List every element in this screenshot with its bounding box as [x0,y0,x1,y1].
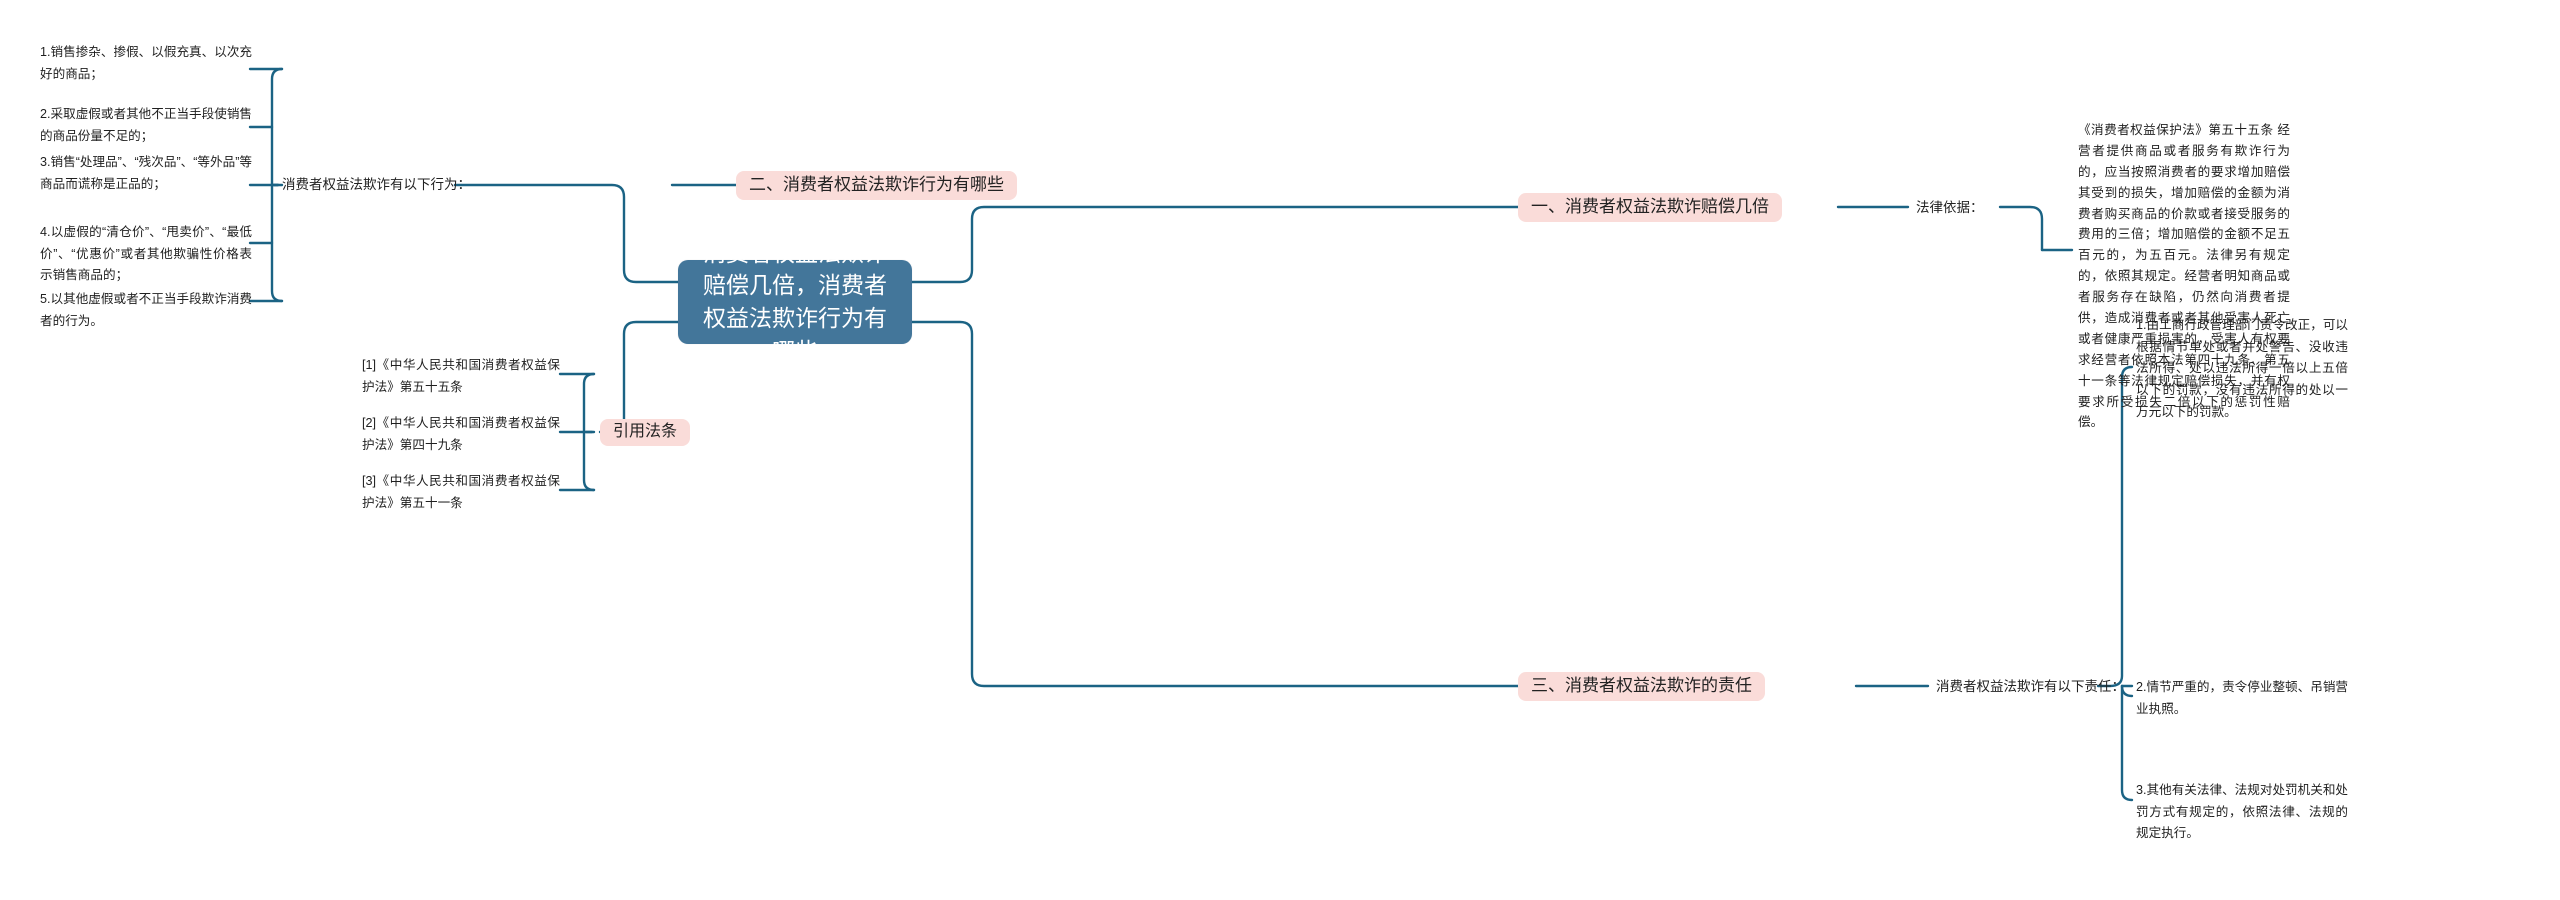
list-item-fraud-5: 5.以其他虚假或者不正当手段欺诈消费者的行为。 [40,289,252,332]
branch-three-connector-text: 消费者权益法欺诈有以下责任： [1936,677,2125,697]
liability-item-2: 2.情节严重的，责令停业整顿、吊销营业执照。 [2136,677,2348,720]
branch-two-connector-text: 消费者权益法欺诈有以下行为： [282,175,471,195]
link-root-to-branch-refs [600,322,678,432]
reference-item-2: [2]《中华人民共和国消费者权益保护法》第四十九条 [362,413,560,456]
branch-node-three-label: 三、消费者权益法欺诈的责任 [1531,675,1752,697]
branch-three-connector-label: 消费者权益法欺诈有以下责任： [1936,676,2125,698]
bracket-branch-two [272,69,282,301]
reference-item-1: [1]《中华人民共和国消费者权益保护法》第五十五条 [362,355,560,398]
list-item-fraud-1: 1.销售掺杂、掺假、以假充真、以次充好的商品； [40,42,252,85]
reference-item-3: [3]《中华人民共和国消费者权益保护法》第五十一条 [362,471,560,514]
branch-node-one[interactable]: 一、消费者权益法欺诈赔偿几倍 [1518,193,1782,222]
branch-one-connector-label: 法律依据： [1916,197,1984,219]
link-label-to-legal-text [2000,207,2042,250]
list-item-fraud-4: 4.以虚假的“清仓价”、“甩卖价”、“最低价”、“优惠价”或者其他欺骗性价格表示… [40,222,252,287]
branch-node-two[interactable]: 二、消费者权益法欺诈行为有哪些 [736,171,1017,200]
mindmap-canvas: 消费者权益法欺诈赔偿几倍，消费者权益法欺诈行为有哪些 二、消费者权益法欺诈行为有… [0,0,2560,900]
list-item-fraud-4-text: 4.以虚假的“清仓价”、“甩卖价”、“最低价”、“优惠价”或者其他欺骗性价格表示… [40,225,252,282]
reference-item-1-text: [1]《中华人民共和国消费者权益保护法》第五十五条 [362,358,560,394]
list-item-fraud-2: 2.采取虚假或者其他不正当手段使销售的商品份量不足的； [40,104,252,147]
branch-node-references[interactable]: 引用法条 [600,419,690,446]
list-item-fraud-5-text: 5.以其他虚假或者不正当手段欺诈消费者的行为。 [40,292,252,328]
bracket-resp-bottom [2122,686,2132,800]
list-item-fraud-3-text: 3.销售“处理品”、“残次品”、“等外品”等商品而谎称是正品的； [40,155,252,191]
list-item-fraud-2-text: 2.采取虚假或者其他不正当手段使销售的商品份量不足的； [40,107,252,143]
liability-item-2-text: 2.情节严重的，责令停业整顿、吊销营业执照。 [2136,680,2348,716]
link-root-to-branch-two [455,185,678,282]
branch-node-references-label: 引用法条 [613,422,677,443]
liability-item-1: 1.由工商行政管理部门责令改正，可以根据情节单处或者并处警告、没收违法所得、处以… [2136,315,2348,423]
list-item-fraud-3: 3.销售“处理品”、“残次品”、“等外品”等商品而谎称是正品的； [40,152,252,195]
reference-item-3-text: [3]《中华人民共和国消费者权益保护法》第五十一条 [362,474,560,510]
link-root-to-branch-one [912,207,1518,282]
list-item-fraud-1-text: 1.销售掺杂、掺假、以假充真、以次充好的商品； [40,45,252,81]
branch-one-connector-text: 法律依据： [1916,198,1984,218]
liability-item-1-text: 1.由工商行政管理部门责令改正，可以根据情节单处或者并处警告、没收违法所得、处以… [2136,318,2348,419]
reference-item-2-text: [2]《中华人民共和国消费者权益保护法》第四十九条 [362,416,560,452]
link-root-to-branch-three [912,322,1518,686]
liability-item-3-text: 3.其他有关法律、法规对处罚机关和处罚方式有规定的，依照法律、法规的规定执行。 [2136,783,2348,840]
bracket-branch-refs [584,374,594,490]
branch-node-two-label: 二、消费者权益法欺诈行为有哪些 [749,174,1004,196]
branch-node-three[interactable]: 三、消费者权益法欺诈的责任 [1518,672,1765,701]
branch-two-connector-label: 消费者权益法欺诈有以下行为： [282,174,471,196]
liability-item-3: 3.其他有关法律、法规对处罚机关和处罚方式有规定的，依照法律、法规的规定执行。 [2136,780,2348,845]
root-node-label: 消费者权益法欺诈赔偿几倍，消费者权益法欺诈行为有哪些 [696,237,894,368]
branch-node-one-label: 一、消费者权益法欺诈赔偿几倍 [1531,196,1769,218]
root-node[interactable]: 消费者权益法欺诈赔偿几倍，消费者权益法欺诈行为有哪些 [678,260,912,344]
